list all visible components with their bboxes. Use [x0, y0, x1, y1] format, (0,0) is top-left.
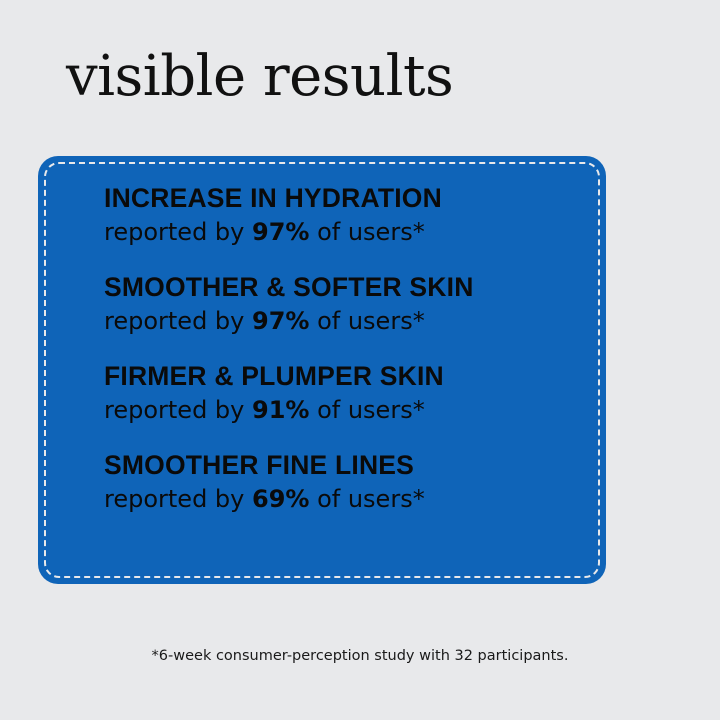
page-title: visible results: [66, 46, 453, 108]
claims-list: INCREASE IN HYDRATION reported by 97% of…: [104, 182, 576, 516]
claim-value: 97%: [252, 307, 309, 335]
claim-suffix: of users*: [309, 485, 424, 513]
poster-canvas: visible results INCREASE IN HYDRATION re…: [0, 0, 720, 720]
results-card: INCREASE IN HYDRATION reported by 97% of…: [38, 156, 606, 584]
claim-prefix: reported by: [104, 485, 252, 513]
footnote: *6-week consumer-perception study with 3…: [0, 648, 720, 664]
claim-prefix: reported by: [104, 396, 252, 424]
list-item: SMOOTHER & SOFTER SKIN reported by 97% o…: [104, 271, 576, 338]
claim-title: SMOOTHER & SOFTER SKIN: [104, 271, 576, 304]
claim-value: 91%: [252, 396, 309, 424]
claim-suffix: of users*: [309, 307, 424, 335]
claim-subtitle: reported by 69% of users*: [104, 482, 576, 516]
claim-subtitle: reported by 97% of users*: [104, 304, 576, 338]
claim-prefix: reported by: [104, 307, 252, 335]
claim-value: 97%: [252, 218, 309, 246]
claim-suffix: of users*: [309, 218, 424, 246]
list-item: INCREASE IN HYDRATION reported by 97% of…: [104, 182, 576, 249]
claim-title: INCREASE IN HYDRATION: [104, 182, 576, 215]
claim-value: 69%: [252, 485, 309, 513]
claim-subtitle: reported by 97% of users*: [104, 215, 576, 249]
list-item: FIRMER & PLUMPER SKIN reported by 91% of…: [104, 360, 576, 427]
claim-title: SMOOTHER FINE LINES: [104, 449, 576, 482]
list-item: SMOOTHER FINE LINES reported by 69% of u…: [104, 449, 576, 516]
claim-title: FIRMER & PLUMPER SKIN: [104, 360, 576, 393]
claim-subtitle: reported by 91% of users*: [104, 393, 576, 427]
claim-suffix: of users*: [309, 396, 424, 424]
claim-prefix: reported by: [104, 218, 252, 246]
